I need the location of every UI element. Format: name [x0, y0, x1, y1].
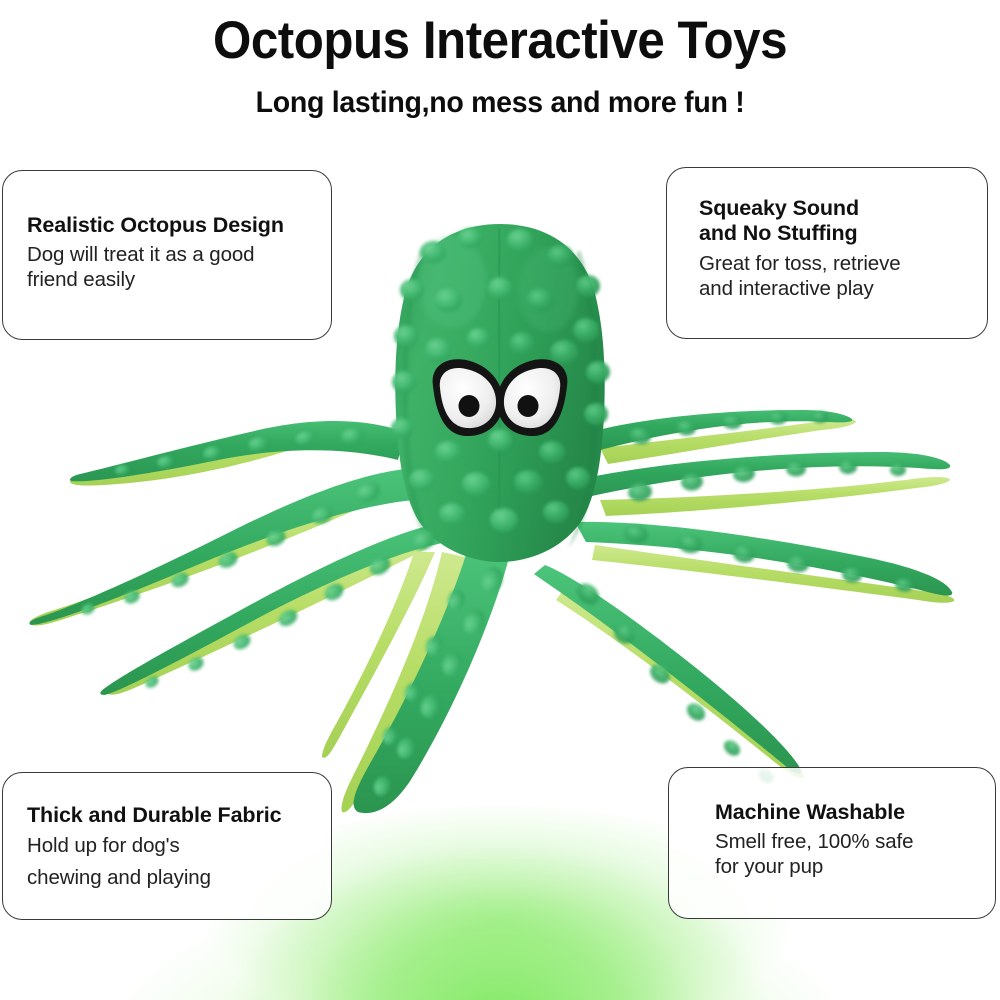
- plush-bump-texture-tentacles: [80, 411, 914, 798]
- callout-realistic-octopus-design: Realistic Octopus Design Dog will treat …: [2, 170, 332, 340]
- octopus-eyes: [433, 359, 568, 436]
- callout-title: Squeaky Sound and No Stuffing: [699, 196, 987, 247]
- octopus-head: [395, 224, 604, 562]
- left-eye: [433, 359, 503, 436]
- right-eye: [497, 359, 567, 436]
- plush-bump-texture-head: [391, 228, 610, 532]
- callout-title: Thick and Durable Fabric: [27, 803, 331, 828]
- callout-body: Smell free, 100% safe for your pup: [715, 829, 995, 879]
- callout-body: Hold up for dog's chewing and playing: [27, 830, 331, 894]
- product-infographic: Octopus Interactive Toys Long lasting,no…: [0, 0, 1000, 1000]
- callout-title: Machine Washable: [715, 800, 995, 825]
- callout-machine-washable: Machine Washable Smell free, 100% safe f…: [668, 767, 996, 919]
- tentacles-group: [29, 410, 954, 813]
- callout-title: Realistic Octopus Design: [27, 213, 331, 238]
- callout-thick-durable-fabric: Thick and Durable Fabric Hold up for dog…: [2, 772, 332, 920]
- page-title: Octopus Interactive Toys: [35, 10, 965, 71]
- callout-squeaky-sound-no-stuffing: Squeaky Sound and No Stuffing Great for …: [666, 167, 988, 339]
- callout-body: Dog will treat it as a good friend easil…: [27, 242, 331, 292]
- page-subtitle: Long lasting,no mess and more fun !: [25, 86, 975, 120]
- callout-body: Great for toss, retrieve and interactive…: [699, 251, 987, 301]
